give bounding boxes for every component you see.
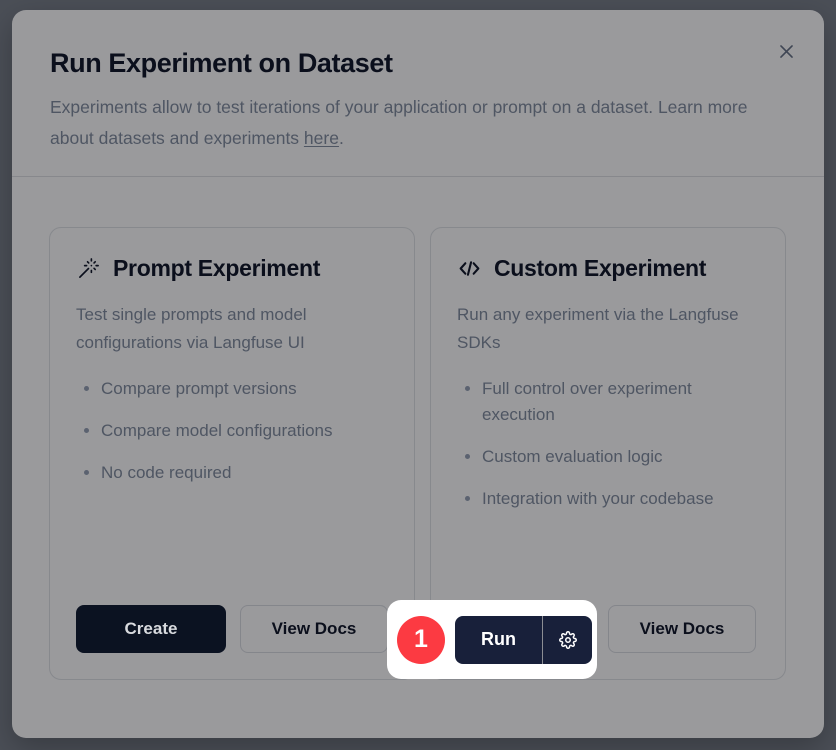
card-header: Prompt Experiment xyxy=(76,255,388,282)
card-actions: Create View Docs xyxy=(76,605,388,653)
code-brackets-icon xyxy=(457,256,482,281)
list-item: No code required xyxy=(76,460,388,486)
card-subtitle: Run any experiment via the Langfuse SDKs xyxy=(457,301,759,356)
card-feature-list: Compare prompt versions Compare model co… xyxy=(76,376,388,593)
run-split-button-highlighted[interactable]: Run xyxy=(455,616,592,664)
dialog-header: Run Experiment on Dataset Experiments al… xyxy=(12,10,824,177)
card-title: Custom Experiment xyxy=(494,255,706,282)
gear-icon-highlighted[interactable] xyxy=(543,616,592,664)
list-item: Compare model configurations xyxy=(76,418,388,444)
page-title: Run Experiment on Dataset xyxy=(50,48,784,79)
view-docs-button-prompt[interactable]: View Docs xyxy=(240,605,388,653)
card-subtitle: Test single prompts and model configurat… xyxy=(76,301,388,356)
dialog-description-text: Experiments allow to test iterations of … xyxy=(50,97,747,148)
list-item: Integration with your codebase xyxy=(457,486,759,512)
view-docs-button-custom[interactable]: View Docs xyxy=(608,605,756,653)
create-button[interactable]: Create xyxy=(76,605,226,653)
card-header: Custom Experiment xyxy=(457,255,759,282)
annotation-highlight: 1 Run xyxy=(387,600,597,679)
card-title: Prompt Experiment xyxy=(113,255,320,282)
learn-more-link[interactable]: here xyxy=(304,128,339,148)
close-icon[interactable] xyxy=(773,38,799,64)
dialog-description-period: . xyxy=(339,128,344,148)
list-item: Full control over experiment execution xyxy=(457,376,759,428)
dialog-description: Experiments allow to test iterations of … xyxy=(50,92,750,154)
status-badge: 1 xyxy=(397,616,445,664)
prompt-experiment-card[interactable]: Prompt Experiment Test single prompts an… xyxy=(49,227,415,680)
list-item: Custom evaluation logic xyxy=(457,444,759,470)
run-button-highlighted[interactable]: Run xyxy=(455,616,543,664)
run-experiment-dialog: Run Experiment on Dataset Experiments al… xyxy=(12,10,824,738)
magic-wand-icon xyxy=(76,256,101,281)
list-item: Compare prompt versions xyxy=(76,376,388,402)
card-feature-list: Full control over experiment execution C… xyxy=(457,376,759,593)
